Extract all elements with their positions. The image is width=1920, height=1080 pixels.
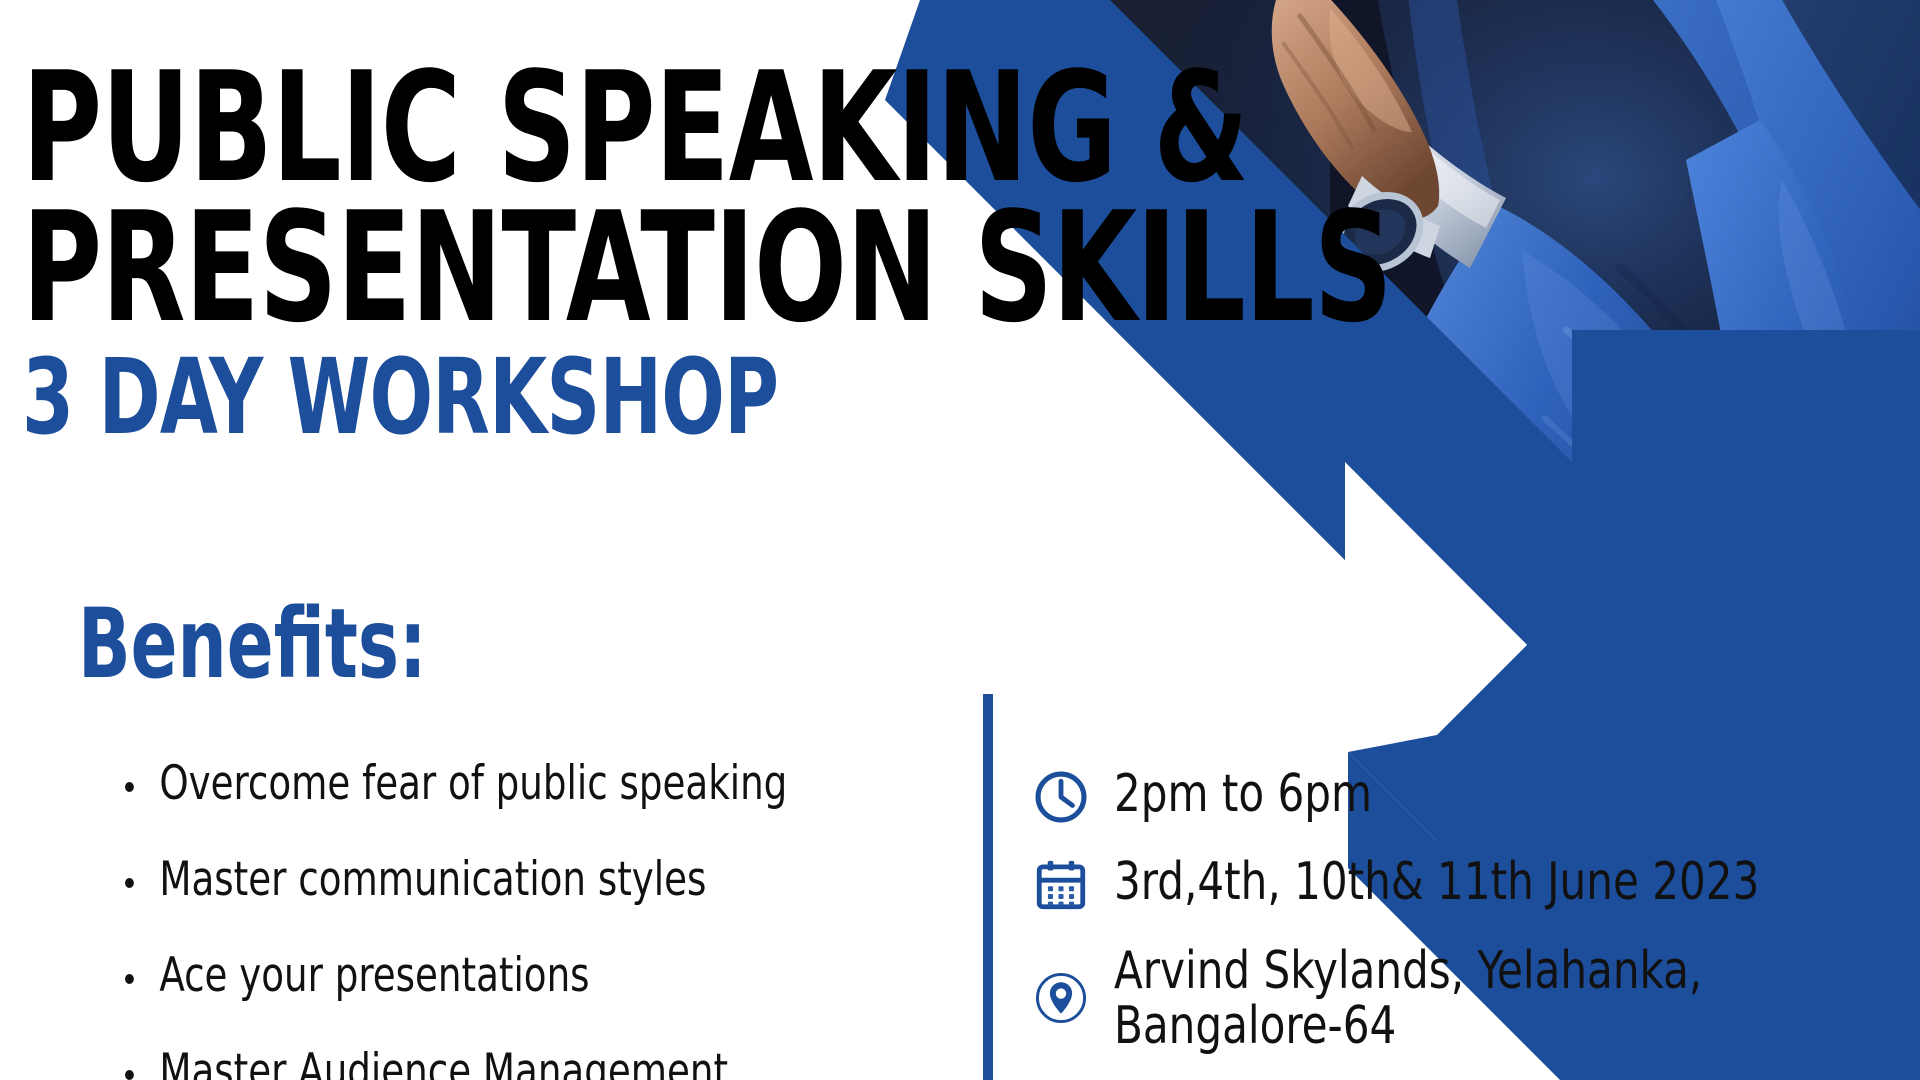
event-location-row: Arvind Skylands, Yelahanka,Bangalore-64 — [1030, 942, 1820, 1054]
benefit-item: Master communication styles — [118, 856, 875, 903]
event-time-row: 2pm to 6pm — [1030, 766, 1820, 828]
event-location-text: Arvind Skylands, Yelahanka,Bangalore-64 — [1114, 942, 1749, 1054]
benefit-item: Master Audience Management — [118, 1048, 875, 1080]
benefits-list: Overcome fear of public speaking Master … — [118, 760, 978, 1080]
poster-content: PUBLIC SPEAKING & PRESENTATION SKILLS 3 … — [0, 0, 1920, 1080]
benefit-item: Overcome fear of public speaking — [118, 760, 875, 807]
event-dates-text: 3rd,4th, 10th& 11th June 2023 — [1114, 854, 1759, 909]
title-line-2: PRESENTATION SKILLS — [22, 198, 918, 338]
poster-canvas: PUBLIC SPEAKING & PRESENTATION SKILLS 3 … — [0, 0, 1920, 1080]
event-dates-row: 3rd,4th, 10th& 11th June 2023 — [1030, 854, 1820, 916]
event-location-line-2: Bangalore-64 — [1114, 996, 1396, 1056]
event-time-text: 2pm to 6pm — [1114, 766, 1372, 821]
event-details-block: 2pm to 6pm — [1030, 766, 1820, 1054]
location-pin-icon — [1030, 967, 1092, 1029]
clock-icon — [1030, 766, 1092, 828]
title-line-1: PUBLIC SPEAKING & — [22, 58, 918, 198]
title-block: PUBLIC SPEAKING & PRESENTATION SKILLS 3 … — [22, 58, 1142, 445]
benefit-item: Ace your presentations — [118, 952, 875, 999]
benefits-heading: Benefits: — [78, 596, 427, 692]
title-subtitle: 3 DAY WORKSHOP — [22, 350, 918, 446]
vertical-divider — [983, 694, 993, 1080]
event-location-line-1: Arvind Skylands, Yelahanka, — [1114, 941, 1702, 1001]
calendar-icon — [1030, 854, 1092, 916]
